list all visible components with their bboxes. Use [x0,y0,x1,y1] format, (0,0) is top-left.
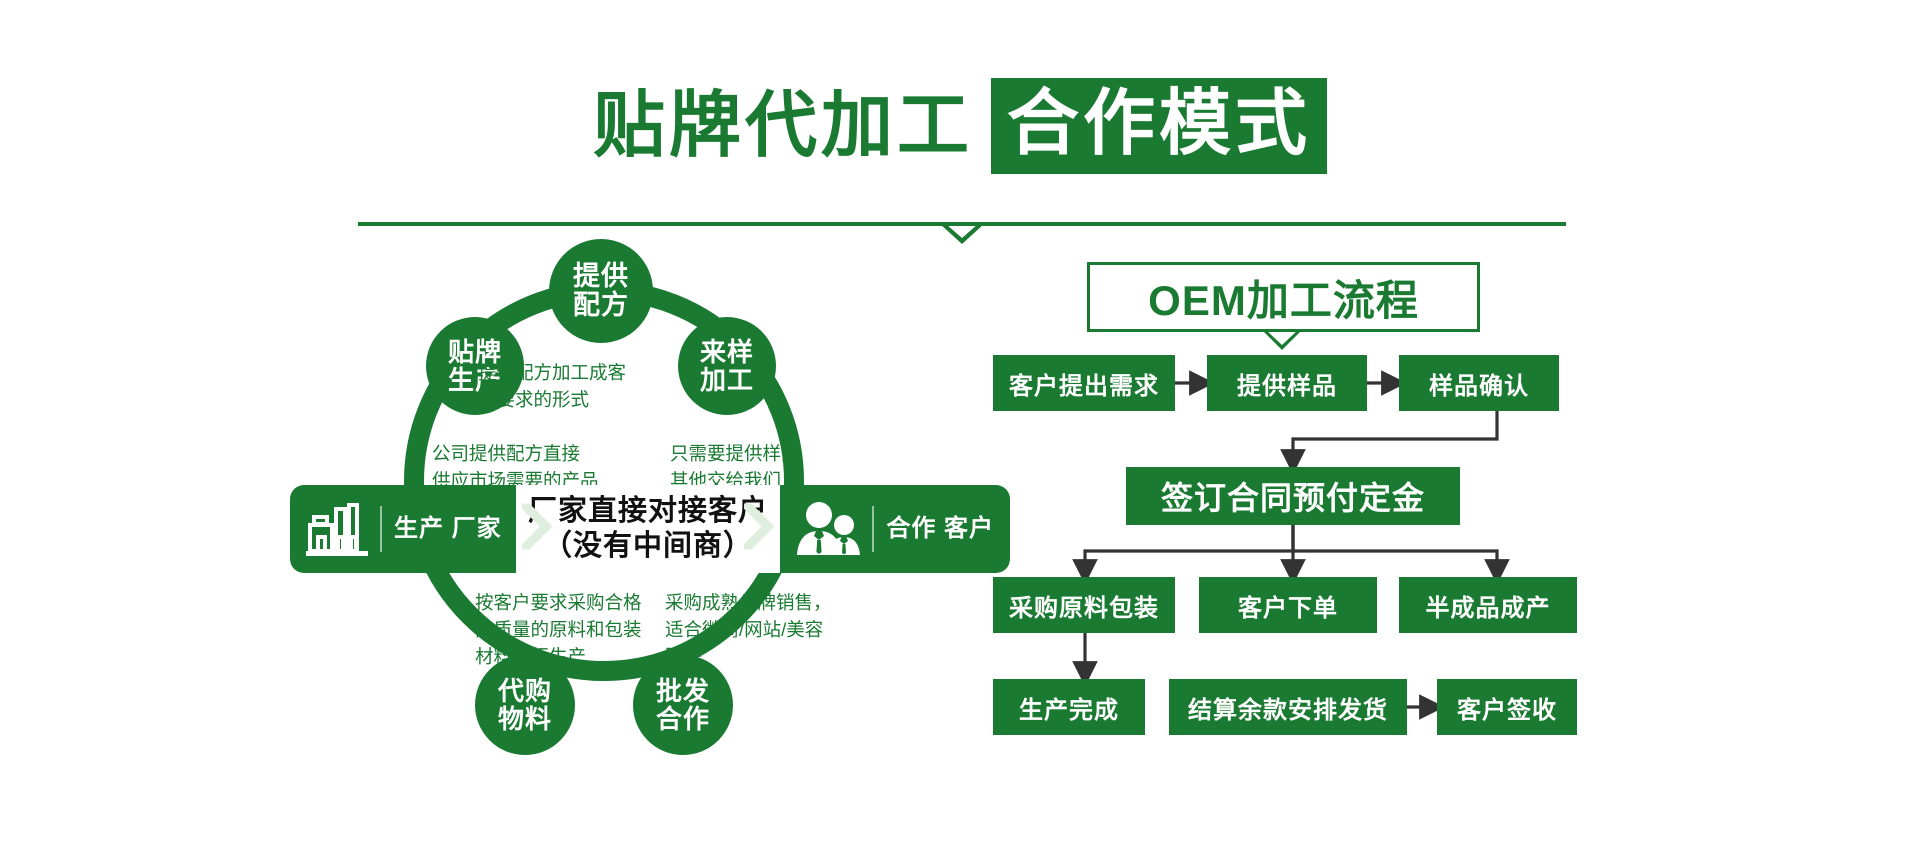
page-title: 贴牌代加工合作模式 [0,78,1920,174]
flow-box-label: 生产完成 [1019,690,1119,725]
center-bar-customers-line1: 合作 [886,515,936,542]
flow-box-shengchan-wancheng[interactable]: 生产完成 [993,679,1145,735]
factory-icon [306,501,368,557]
chevron-down-icon [1261,329,1303,358]
center-bar: 生产 厂家 厂家直接对接客户 （没有中间商） [290,485,1010,573]
flowchart-title: OEM加工流程 [1087,262,1480,332]
center-bar-message-line2: （没有中间商） [528,529,768,564]
flow-box-kehu-qianshou[interactable]: 客户签收 [1437,679,1577,735]
flow-box-label: 采购原料包装 [1009,588,1159,623]
cycle-desc-tigong-peifang: 提供配方加工成客 户要求的形式 [478,360,668,414]
flow-box-label: 结算余款安排发货 [1188,690,1388,725]
cycle-node-label-line1: 提供 [573,262,629,291]
flow-box-kehu-tichu-xuqiu[interactable]: 客户提出需求 [993,355,1175,411]
cycle-desc-daigou-wuliao: 按客户要求采购合格 高质量的原料和包装 材料进行生产 [475,590,685,670]
flow-box-label: 样品确认 [1429,366,1529,401]
chevron-right-icon [522,504,552,555]
center-bar-customers-label: 合作 客户 [886,516,994,543]
center-bar-manufacturer[interactable]: 生产 厂家 [290,485,516,573]
center-bar-message-text: 厂家直接对接客户 （没有中间商） [528,494,768,564]
flow-box-kehu-xiadan[interactable]: 客户下单 [1199,577,1377,633]
cycle-node-laiyang-jiagong[interactable]: 来样 加工 [678,317,776,415]
cycle-node-label-line1: 批发 [656,677,710,705]
flow-box-label: 客户签收 [1457,690,1557,725]
cycle-node-label-line1: 代购 [498,677,552,705]
infographic-canvas: 贴牌代加工合作模式 贴牌 生产 提供 配方 来样 加工 代购 物料 [0,0,1920,857]
flow-box-caigou-yuanliao-baozhuang[interactable]: 采购原料包装 [993,577,1175,633]
cycle-node-tigong-peifang[interactable]: 提供 配方 [549,239,653,343]
cycle-node-label-line2: 加工 [700,366,754,394]
cycle-desc-pifa-hezuo: 采购成熟品牌销售， 适合微商/网站/美容 院等 [665,590,855,670]
flow-box-label: 签订合同预付定金 [1161,473,1425,519]
center-bar-manufacturer-line1: 生产 [394,515,444,542]
flow-box-tigong-yangpin[interactable]: 提供样品 [1207,355,1367,411]
cycle-node-label-line2: 物料 [498,705,552,733]
flow-box-label: 客户提出需求 [1009,366,1159,401]
center-bar-message-line1: 厂家直接对接客户 [528,494,768,529]
title-highlight-text: 合作模式 [991,78,1327,174]
customers-icon [794,501,860,557]
center-bar-message: 厂家直接对接客户 （没有中间商） [516,485,781,573]
flow-box-label: 客户下单 [1238,588,1338,623]
cycle-node-label-line1: 来样 [700,338,754,366]
cycle-node-label-line2: 配方 [573,291,629,320]
title-plain-text: 贴牌代加工 [593,86,973,166]
chevron-down-icon [940,224,984,246]
flow-box-label: 半成品成产 [1426,588,1551,623]
chevron-right-icon [744,504,774,555]
flow-box-jiesuan-yukuan[interactable]: 结算余款安排发货 [1169,679,1407,735]
cycle-diagram: 贴牌 生产 提供 配方 来样 加工 代购 物料 批发 合作 提供配方加工成客 户… [340,255,960,800]
flowchart-title-text: OEM加工流程 [1148,267,1419,328]
flow-box-yangpin-queren[interactable]: 样品确认 [1399,355,1559,411]
center-bar-customers[interactable]: 合作 客户 [780,485,1010,573]
flow-box-label: 提供样品 [1237,366,1337,401]
oem-flowchart: OEM加工流程 [985,255,1605,815]
center-bar-divider-right [872,506,874,552]
cycle-node-label-line2: 合作 [656,705,710,733]
flow-box-qianding-hetong[interactable]: 签订合同预付定金 [1126,467,1460,525]
center-bar-manufacturer-label: 生产 厂家 [394,516,502,543]
flow-box-bancheng-pin-chengchan[interactable]: 半成品成产 [1399,577,1577,633]
center-bar-manufacturer-line2: 厂家 [452,515,502,542]
center-bar-divider-left [380,506,382,552]
